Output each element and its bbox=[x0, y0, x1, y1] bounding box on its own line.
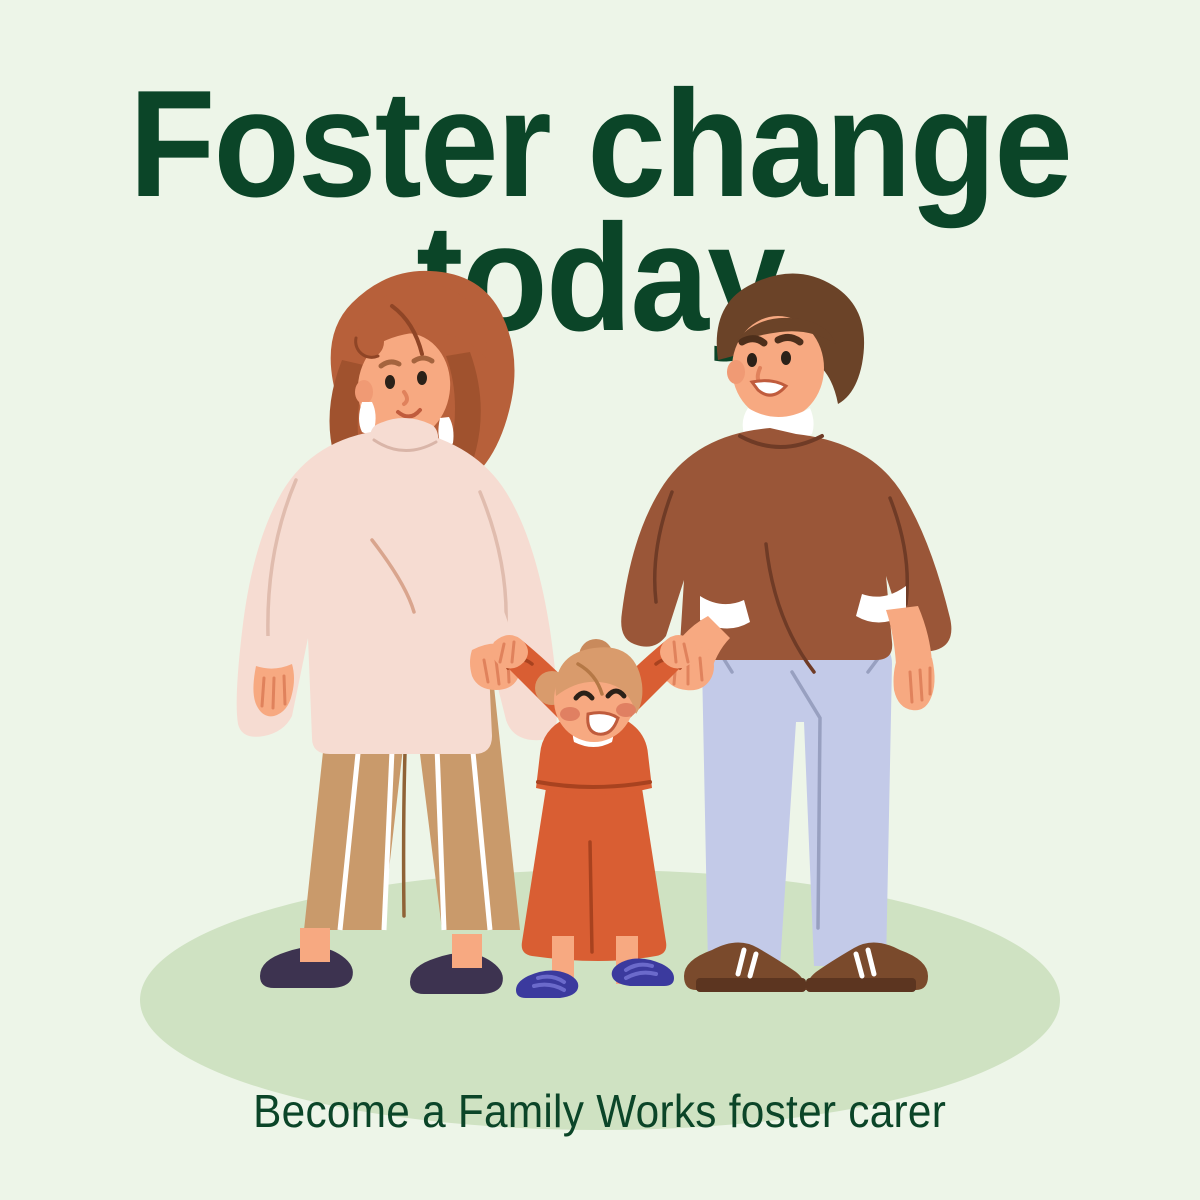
man-shoe-right-sole bbox=[806, 978, 916, 992]
man-eye-right bbox=[781, 351, 791, 365]
subtitle: Become a Family Works foster carer bbox=[0, 1084, 1200, 1138]
woman-eye-right bbox=[417, 371, 427, 385]
subtitle-text: Become a Family Works foster carer bbox=[254, 1084, 947, 1138]
man-ear bbox=[727, 360, 745, 384]
woman-eye-left bbox=[385, 375, 395, 389]
woman-ankle-left bbox=[300, 928, 330, 962]
woman-ear bbox=[355, 380, 373, 404]
child-dress-skirt-fold bbox=[590, 842, 592, 952]
child-cheek-right bbox=[616, 703, 636, 717]
child-cheek-left bbox=[560, 707, 580, 721]
poster-canvas: Foster change today bbox=[0, 0, 1200, 1200]
man-eye-left bbox=[747, 353, 757, 367]
child-dress-skirt bbox=[522, 776, 667, 961]
man-right-hand bbox=[894, 656, 935, 710]
woman-ankle-right bbox=[452, 934, 482, 968]
family-illustration bbox=[0, 0, 1200, 1200]
man-shoe-left-sole bbox=[696, 978, 806, 992]
